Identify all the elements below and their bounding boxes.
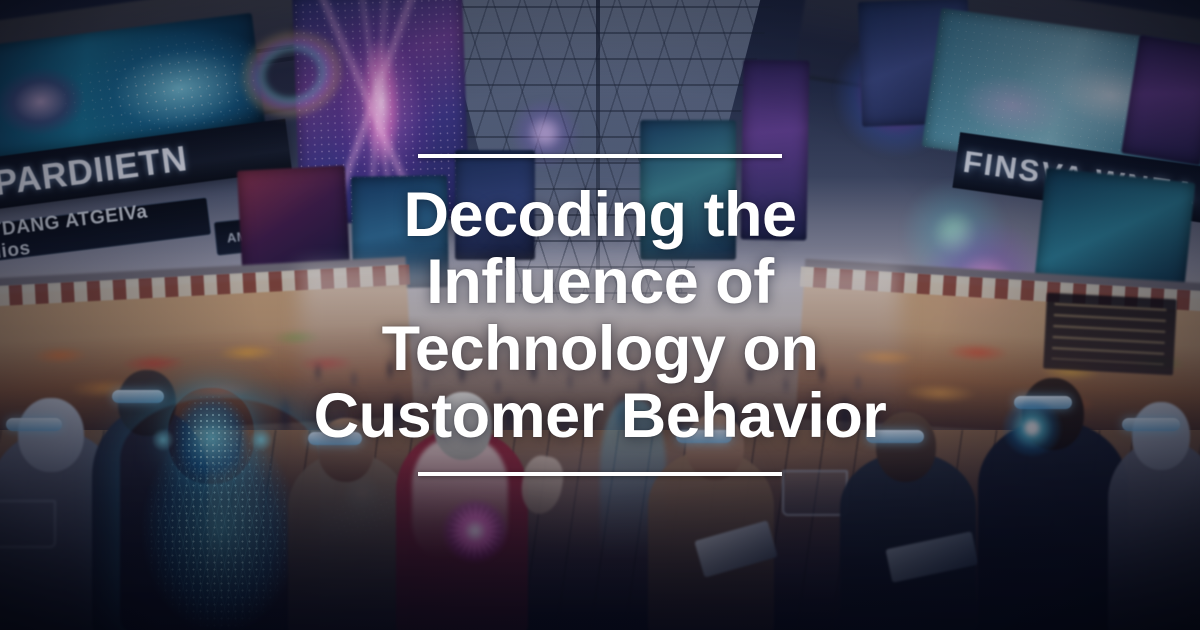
title-line-1: Decoding the (314, 182, 887, 249)
title-line-3: Technology on (314, 316, 887, 383)
hero-banner: E PARDIIETN ACTDANG ATGEIVa Sudios AMLII… (0, 0, 1200, 630)
title-block: Decoding the Influence of Technology on … (0, 0, 1200, 630)
title-line-4: Customer Behavior (314, 383, 887, 450)
divider-bottom (418, 472, 782, 476)
page-title: Decoding the Influence of Technology on … (314, 182, 887, 450)
divider-top (418, 154, 782, 158)
title-line-2: Influence of (314, 249, 887, 316)
